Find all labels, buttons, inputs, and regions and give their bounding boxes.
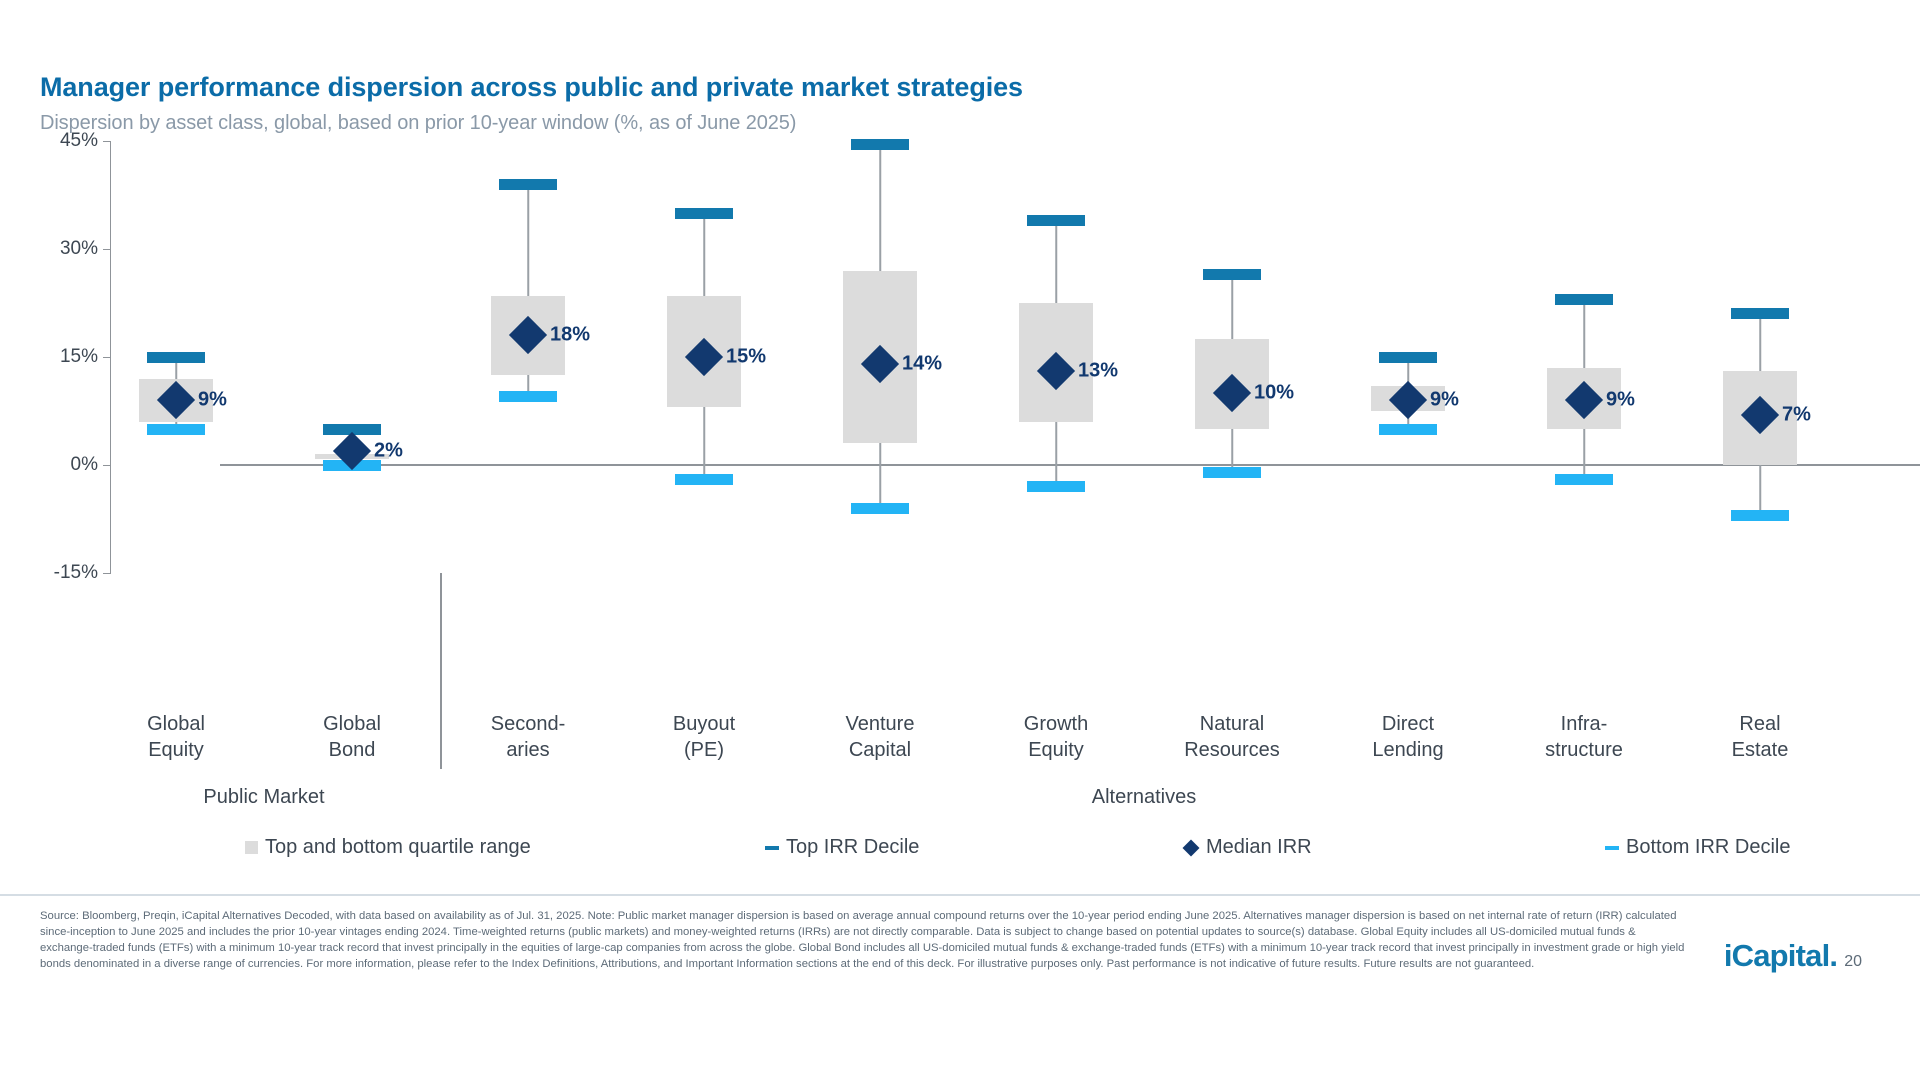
category-group[interactable]: 9% [88,141,264,573]
category-label: GlobalBond [264,712,440,763]
category-group[interactable]: 7% [1672,141,1848,573]
legend-label: Bottom IRR Decile [1626,836,1791,859]
bottom-decile-marker [1731,510,1789,521]
category-group[interactable]: 14% [792,141,968,573]
category-label-line: Lending [1320,738,1496,764]
category-label-line: Bond [264,738,440,764]
top-decile-marker [1203,269,1261,280]
category-label-line: Growth [968,712,1144,738]
slide-root: Manager performance dispersion across pu… [0,0,1920,1080]
category-label-line: Venture [792,712,968,738]
chart-plot-area: 9%2%18%15%14%13%10%9%9%7% [110,141,1870,573]
icapital-logo: iCapital. [1724,938,1837,974]
category-label-line: Global [88,712,264,738]
category-label-line: Global [264,712,440,738]
category-label: DirectLending [1320,712,1496,763]
x-axis-group-labels: Public MarketAlternatives [110,786,1870,820]
y-tick-mark [103,573,111,574]
chart-legend: Top and bottom quartile rangeTop IRR Dec… [110,836,1870,878]
category-label-line: Second- [440,712,616,738]
category-label: Infra-structure [1496,712,1672,763]
category-label-line: Equity [88,738,264,764]
page-subtitle: Dispersion by asset class, global, based… [40,112,796,135]
category-label-line: Capital [792,738,968,764]
category-group[interactable]: 13% [968,141,1144,573]
group-label: Alternatives [440,786,1848,809]
legend-dash-bottom-icon [1605,846,1619,850]
page-number: 20 [1844,953,1862,971]
median-value-label: 14% [902,353,942,376]
median-value-label: 2% [374,439,403,462]
brand-block: iCapital. 20 [1724,938,1862,974]
category-label: NaturalResources [1144,712,1320,763]
group-divider-lower [440,573,442,669]
top-decile-marker [1731,308,1789,319]
bottom-decile-marker [851,503,909,514]
category-group[interactable]: 2% [264,141,440,573]
legend-item[interactable]: Top IRR Decile [765,836,919,859]
x-axis-category-labels: GlobalEquityGlobalBondSecond-ariesBuyout… [110,712,1870,768]
legend-item[interactable]: Top and bottom quartile range [245,836,531,859]
top-decile-marker [1379,352,1437,363]
median-value-label: 9% [198,389,227,412]
legend-label: Median IRR [1206,836,1312,859]
y-axis-tick-labels: 45%30%15%0%-15% [0,141,98,573]
category-label-line: Estate [1672,738,1848,764]
category-label-line: Buyout [616,712,792,738]
category-label-line: aries [440,738,616,764]
top-decile-marker [851,139,909,150]
median-value-label: 15% [726,346,766,369]
legend-item[interactable]: Median IRR [1185,836,1312,859]
category-group[interactable]: 15% [616,141,792,573]
bottom-decile-marker [1203,467,1261,478]
legend-label: Top and bottom quartile range [265,836,531,859]
category-label: VentureCapital [792,712,968,763]
category-label-line: Real [1672,712,1848,738]
category-label-line: Direct [1320,712,1496,738]
top-decile-marker [1027,215,1085,226]
bottom-decile-marker [147,424,205,435]
top-decile-marker [1555,294,1613,305]
category-label: Buyout(PE) [616,712,792,763]
median-value-label: 9% [1430,389,1459,412]
category-label: Second-aries [440,712,616,763]
bottom-decile-marker [499,391,557,402]
legend-label: Top IRR Decile [786,836,919,859]
top-decile-marker [147,352,205,363]
category-label-line: Equity [968,738,1144,764]
category-group[interactable]: 9% [1496,141,1672,573]
category-group[interactable]: 18% [440,141,616,573]
bottom-decile-marker [675,474,733,485]
bottom-decile-marker [1555,474,1613,485]
legend-item[interactable]: Bottom IRR Decile [1605,836,1791,859]
median-value-label: 9% [1606,389,1635,412]
category-label-line: (PE) [616,738,792,764]
top-decile-marker [675,208,733,219]
category-label-line: Infra- [1496,712,1672,738]
median-value-label: 10% [1254,382,1294,405]
legend-box-icon [245,841,258,854]
group-label: Public Market [88,786,440,809]
footnote-text: Source: Bloomberg, Preqin, iCapital Alte… [40,908,1685,972]
category-label: GlobalEquity [88,712,264,763]
category-label: RealEstate [1672,712,1848,763]
legend-dash-top-icon [765,846,779,850]
category-label-line: Natural [1144,712,1320,738]
page-title: Manager performance dispersion across pu… [40,72,1023,103]
median-value-label: 13% [1078,360,1118,383]
top-decile-marker [499,179,557,190]
bottom-decile-marker [1027,481,1085,492]
median-value-label: 18% [550,324,590,347]
category-group[interactable]: 9% [1320,141,1496,573]
category-group[interactable]: 10% [1144,141,1320,573]
bottom-decile-marker [1379,424,1437,435]
category-label-line: Resources [1144,738,1320,764]
category-label: GrowthEquity [968,712,1144,763]
legend-diamond-icon [1183,839,1200,856]
footer-divider [0,894,1920,896]
median-value-label: 7% [1782,403,1811,426]
category-label-line: structure [1496,738,1672,764]
